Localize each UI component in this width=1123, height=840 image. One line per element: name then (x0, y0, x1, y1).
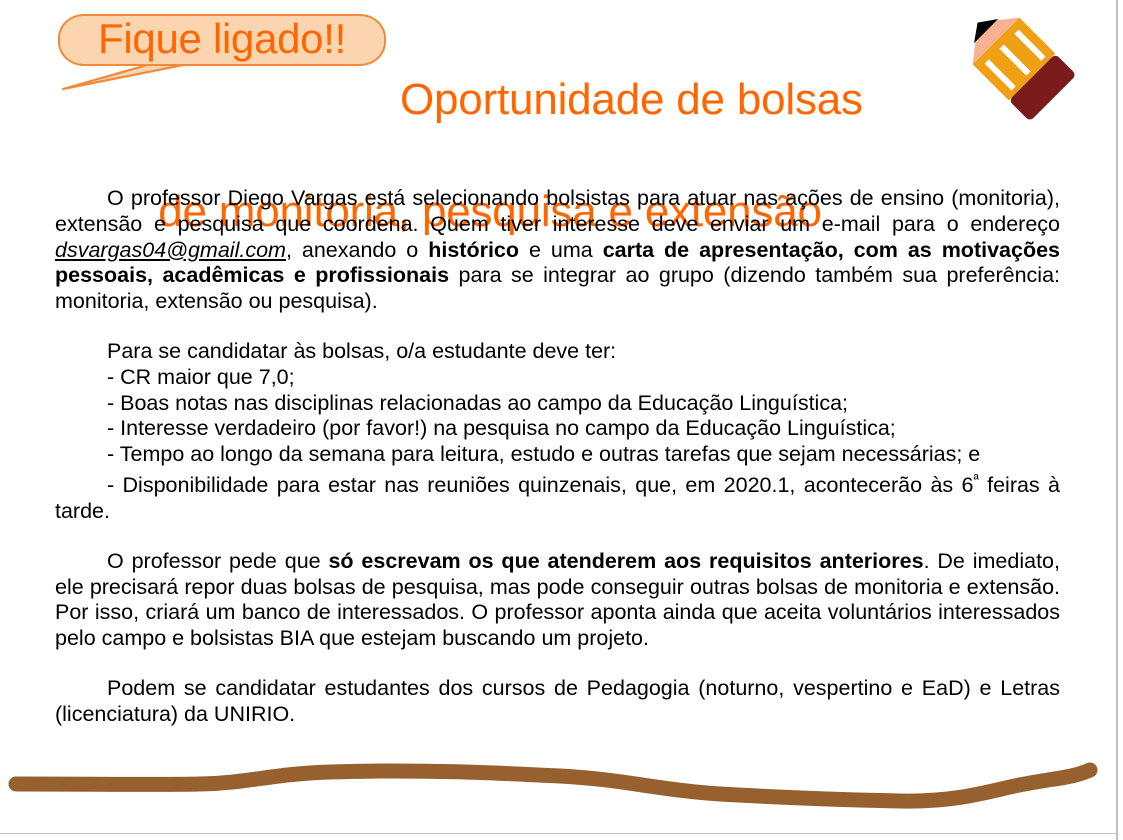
paragraph-note-part1: O professor pede que (107, 549, 328, 573)
requirement-item-2: - Boas notas nas disciplinas relacionada… (55, 391, 1060, 417)
pencil-icon (958, 2, 1082, 128)
requirement-item-5-part1: - Disponibilidade para estar nas reuniõe… (107, 473, 973, 497)
brown-squiggle-divider (0, 752, 1123, 822)
spacer (55, 315, 1060, 339)
paragraph-intro-part3: e uma (519, 238, 603, 262)
paragraph-eligibility: Podem se candidatar estudantes dos curso… (55, 676, 1060, 728)
slide-border-bottom (0, 833, 1117, 834)
slide-border-right (1116, 0, 1118, 840)
requirement-item-3: - Interesse verdadeiro (por favor!) na p… (55, 416, 1060, 442)
title-line-1: Oportunidade de bolsas (60, 72, 980, 128)
paragraph-intro-part2: , anexando o (286, 238, 428, 262)
title-block: Oportunidade de bolsas de monitoria, pes… (0, 0, 1000, 140)
contact-email[interactable]: dsvargas04@gmail.com (55, 238, 286, 262)
body-content: O professor Diego Vargas está selecionan… (55, 186, 1060, 728)
paragraph-intro-part1: O professor Diego Vargas está selecionan… (55, 186, 1060, 236)
requirement-item-1: - CR maior que 7,0; (55, 365, 1060, 391)
spacer (55, 525, 1060, 549)
paragraph-note-bold1: só escrevam os que atenderem aos requisi… (328, 549, 923, 573)
paragraph-intro: O professor Diego Vargas está selecionan… (55, 186, 1060, 315)
callout-bubble: Fique ligado!! (58, 14, 386, 66)
requirement-item-5: - Disponibilidade para estar nas reuniõe… (55, 468, 1060, 525)
callout-bubble-label: Fique ligado!! (98, 18, 346, 60)
requirements-intro: Para se candidatar às bolsas, o/a estuda… (55, 339, 1060, 365)
slide-canvas: Oportunidade de bolsas de monitoria, pes… (0, 0, 1123, 840)
paragraph-requirements-note: O professor pede que só escrevam os que … (55, 549, 1060, 652)
requirement-item-4: - Tempo ao longo da semana para leitura,… (55, 442, 1060, 468)
spacer (55, 652, 1060, 676)
paragraph-intro-bold1: histórico (428, 238, 519, 262)
